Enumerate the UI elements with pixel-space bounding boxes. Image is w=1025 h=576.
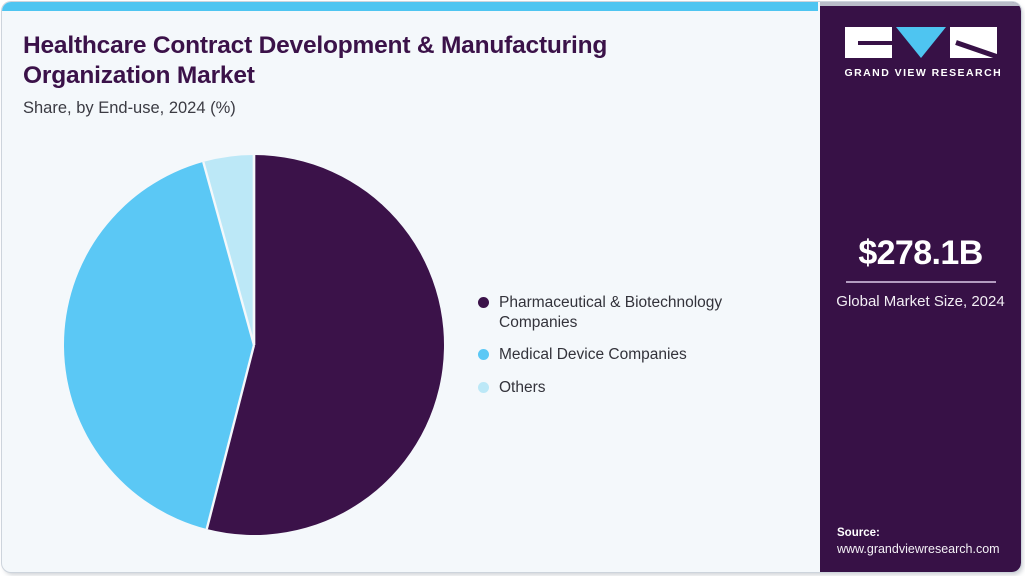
stat-caption: Global Market Size, 2024 [820, 292, 1021, 312]
stat-value: $278.1B [820, 236, 1021, 270]
chart-pane: Healthcare Contract Development & Manufa… [2, 11, 820, 572]
infographic-card: Healthcare Contract Development & Manufa… [2, 2, 1021, 572]
pie-chart-svg [61, 152, 447, 538]
pie-chart [61, 152, 447, 538]
legend-item[interactable]: Pharmaceutical & Biotechnology Companies [478, 293, 788, 332]
logo-marks [845, 27, 997, 58]
legend-item[interactable]: Medical Device Companies [478, 345, 788, 365]
legend-item-label: Pharmaceutical & Biotechnology Companies [499, 293, 767, 332]
letter-r-icon [950, 27, 997, 58]
page-title: Healthcare Contract Development & Manufa… [23, 31, 753, 92]
grand-view-research-logo[interactable]: GRAND VIEW RESEARCH [845, 27, 997, 79]
top-accent-bar [2, 2, 818, 11]
legend-color-swatch-pharmaceutical [478, 297, 489, 308]
source-label: Source: [837, 525, 1019, 541]
title-block: Healthcare Contract Development & Manufa… [23, 31, 753, 119]
source-url[interactable]: www.grandviewresearch.com [837, 541, 1019, 558]
legend-item[interactable]: Others [478, 378, 788, 398]
logo-wordmark: GRAND VIEW RESEARCH [845, 67, 997, 79]
legend-color-swatch-others [478, 382, 489, 393]
page-subtitle: Share, by End-use, 2024 (%) [23, 98, 753, 119]
panel-top-strip [820, 2, 1021, 6]
source-block: Source: www.grandviewresearch.com [837, 525, 1019, 558]
market-size-stat: $278.1B Global Market Size, 2024 [820, 236, 1021, 311]
stat-divider [846, 281, 996, 283]
letter-g-icon [845, 27, 892, 58]
legend-item-label: Others [499, 378, 546, 398]
letter-v-triangle-icon [896, 27, 946, 58]
brand-side-panel: GRAND VIEW RESEARCH $278.1B Global Marke… [820, 2, 1021, 572]
chart-legend: Pharmaceutical & Biotechnology Companies… [478, 293, 788, 398]
legend-color-swatch-medical-device [478, 349, 489, 360]
legend-item-label: Medical Device Companies [499, 345, 687, 365]
